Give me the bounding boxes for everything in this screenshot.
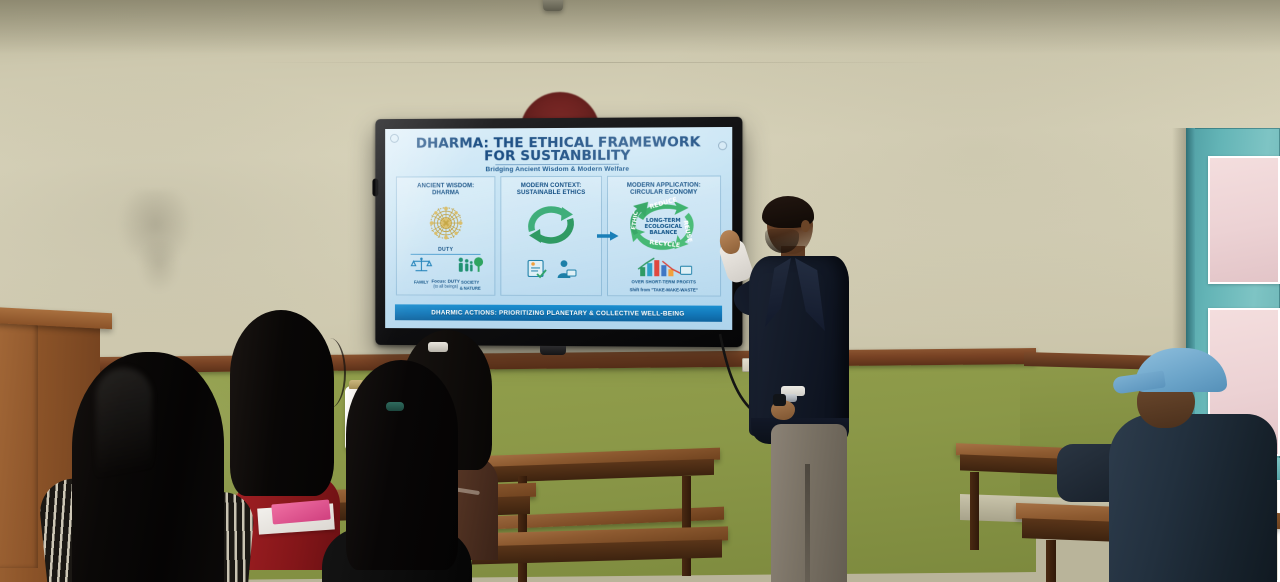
student-zebra-print-top <box>48 352 248 582</box>
presenter-remote <box>773 394 786 406</box>
tv-brand-label <box>533 335 581 344</box>
screen-sensor-right <box>718 141 727 150</box>
slide-banner-text: DHARMIC ACTIONS: PRIORITIZING PLANETARY … <box>431 309 684 317</box>
presenter-jacket <box>749 256 849 436</box>
panel-ancient-wisdom: ANCIENT WISDOM: DHARMA <box>396 176 496 296</box>
circular-arrows-icon <box>520 201 582 249</box>
panel-3-heading-line-2: CIRCULAR ECONOMY <box>630 189 697 196</box>
slide-title-line-2: FOR SUSTANBILITY <box>399 149 718 164</box>
document-check-icon <box>526 259 548 279</box>
panel-1-heading: ANCIENT WISDOM: DHARMA <box>400 182 492 197</box>
ceiling-shadow <box>0 0 1280 54</box>
presenter <box>735 196 863 582</box>
panel-1-footer: Focus: DUTY (to all beings) <box>397 278 495 289</box>
presenter-ear <box>801 220 810 232</box>
panel-3-heading: MODERN APPLICATION: CIRCULAR ECONOMY <box>611 182 717 197</box>
panel-3-heading-line-1: MODERN APPLICATION: <box>627 182 701 189</box>
desk-leg <box>970 472 979 550</box>
podium-front-panel <box>0 310 38 568</box>
panel-2-heading: MODERN CONTEXT: SUSTAINABLE ETHICS <box>505 182 598 197</box>
panel-1-divider <box>411 254 481 255</box>
panel-modern-context: MODERN CONTEXT: SUSTAINABLE ETHICS <box>501 176 602 296</box>
student-hair-highlight <box>96 368 152 518</box>
svg-text:ETHIC: ETHIC <box>631 211 640 230</box>
desk-leg <box>1046 540 1056 582</box>
mandala-icon <box>426 203 465 243</box>
panel-1-footer-line-1: Focus: DUTY <box>431 278 459 283</box>
panel-2-heading-line-1: MODERN CONTEXT: <box>521 182 582 189</box>
ceiling-light-icon <box>543 0 563 11</box>
panel-2-icon-row <box>502 259 601 279</box>
wall-smudge-secondary <box>138 240 182 296</box>
slide-banner: DHARMIC ACTIONS: PRIORITIZING PLANETARY … <box>395 304 722 321</box>
panel-1-heading-line-1: ANCIENT WISDOM: <box>417 182 474 189</box>
person-icon <box>555 259 577 279</box>
screen-sensor-left <box>390 134 399 143</box>
panel-1-divider-label: DUTY <box>397 247 495 253</box>
student-hair-clip <box>428 342 448 352</box>
slide-panels: ANCIENT WISDOM: DHARMA <box>396 175 721 296</box>
presentation-slide: DHARMA: THE ETHICAL FRAMEWORK FOR SUSTAN… <box>385 127 732 330</box>
people-and-tree-icon <box>456 257 484 274</box>
slide-title: DHARMA: THE ETHICAL FRAMEWORK FOR SUSTAN… <box>399 136 718 164</box>
wall-crack <box>250 62 950 63</box>
tv-power-button[interactable] <box>372 179 378 197</box>
panel-1-footer-line-2: (to all beings) <box>433 284 458 289</box>
panel-3-footer-line-2: Shift from "TAKE-MAKE-WASTE" <box>608 287 720 292</box>
student-hair <box>346 360 458 570</box>
classroom-photo: DHARMA: THE ETHICAL FRAMEWORK FOR SUSTAN… <box>0 0 1280 582</box>
bar-chart-decline-icon <box>632 255 695 277</box>
student-hair-clip <box>386 402 404 411</box>
panel-2-heading-line-2: SUSTAINABLE ETHICS <box>517 189 586 196</box>
panel-1-heading-line-2: DHARMA <box>432 189 459 196</box>
slide-subtitle: Bridging Ancient Wisdom & Modern Welfare <box>399 165 718 173</box>
tv-screen: DHARMA: THE ETHICAL FRAMEWORK FOR SUSTAN… <box>385 127 732 330</box>
panel-modern-application: MODERN APPLICATION: CIRCULAR ECONOMY RED… <box>607 175 721 296</box>
presenter-leg-seam <box>805 464 810 582</box>
recycling-loop-icon: REDUCE REUSE RECYCLE ETHIC LONG-TERM ECO… <box>620 197 707 253</box>
flat-panel-display[interactable]: DHARMA: THE ETHICAL FRAMEWORK FOR SUSTAN… <box>375 117 742 347</box>
door-panel-top <box>1208 156 1280 284</box>
panel-3-footer-line-1: OVER SHORT-TERM PROFITS <box>608 279 720 284</box>
student-black-top <box>330 360 480 582</box>
student-torso <box>1109 414 1277 582</box>
loop-center-line-3: BALANCE <box>650 230 678 236</box>
right-arrow-icon <box>597 231 619 241</box>
tv-wall-mount <box>540 346 566 355</box>
student-blue-cap <box>1095 348 1280 582</box>
scales-icon <box>410 257 432 274</box>
